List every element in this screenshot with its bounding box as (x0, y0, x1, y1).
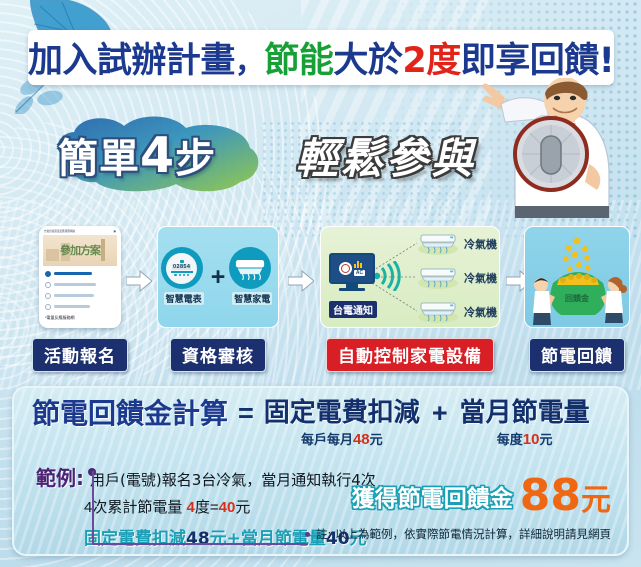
steps-title-prefix: 簡單 (58, 136, 140, 182)
air-conditioner-icon (417, 267, 459, 289)
step-label-eligibility-review: 資格審核 (170, 338, 266, 372)
smart-appliance-icon (229, 247, 271, 289)
phone-statusbar-title: 台電供電需量反應服務網站 (44, 230, 75, 234)
steps-title-number: 4 (140, 127, 175, 184)
appliance-label: 冷氣機 (464, 304, 497, 320)
term2-detail: 每度10元 (460, 429, 590, 448)
formula-equals: = (238, 399, 254, 429)
footnote-block: 註: 以上為範例，依實際節電情況計算，詳細說明請見網頁 (305, 526, 611, 542)
pointer-vertical-line-decor (92, 471, 94, 544)
arrow-right-icon-2 (288, 270, 314, 292)
phone-list-item-label (54, 305, 90, 308)
appliance-row: 冷氣機 (417, 267, 497, 289)
smart-meter-icon: 02854 (161, 247, 203, 289)
meter-reading: 02854 (172, 264, 191, 270)
megaphone-man-illustration (449, 78, 639, 218)
air-conditioner-icon (417, 233, 459, 255)
phone-list-item-label (54, 294, 94, 297)
formula-plus: + (432, 399, 448, 429)
phone-list-item[interactable] (45, 282, 117, 288)
formula-term-fixed-discount: 固定電費扣減 每戶每月48元 (264, 399, 420, 448)
headline-text: 加入試辦計畫，節能大於2度即享回饋! (28, 32, 614, 83)
step-flow: 台電供電需量反應服務網站 ▣ 參加方案 (0, 218, 641, 368)
phone-footer-note: *電量反應服務網 (45, 315, 117, 321)
steps-title: 簡單4步 (58, 126, 216, 184)
appliance-label: 冷氣機 (464, 270, 497, 286)
result-label: 獲得節電回饋金 (352, 479, 513, 513)
term2-detail-prefix: 每度 (497, 432, 523, 447)
phone-step-list (43, 271, 117, 310)
headline-part-4: 2度 (402, 41, 460, 81)
calculation-panel: 節電回饋金計算 = 固定電費扣減 每戶每月48元 + 當月節電量 每度10元 範… (12, 386, 629, 556)
appliance-row: 冷氣機 (417, 233, 497, 255)
headline-part-2: 節能 (264, 41, 333, 81)
air-conditioner-icon (417, 301, 459, 323)
smart-appliance-caption: 智慧家電 (232, 292, 272, 305)
phone-statusbar-icon: ▣ (114, 230, 116, 234)
footnote-text: 註: 以上為範例，依實際節電情況計算，詳細說明請見網頁 (316, 526, 611, 542)
appliance-label: 冷氣機 (464, 236, 497, 252)
term2-detail-unit: 元 (539, 432, 552, 447)
example-line3-b: 48 (186, 529, 210, 549)
headline-part-3: 大於 (333, 41, 402, 81)
money-bag-illustration (525, 227, 630, 328)
step-label-activity-registration: 活動報名 (32, 338, 128, 372)
plus-operator: + (211, 263, 226, 292)
phone-list-item-label (54, 283, 96, 286)
result-amount-value: 88 (520, 470, 581, 521)
step-auto-control-appliances[interactable]: AC 台電通知 (320, 226, 500, 328)
step-eligibility-review[interactable]: 02854 智慧電表 + (157, 226, 279, 328)
example-line3-a: 固定電費扣減 (84, 529, 186, 549)
result-block: 獲得節電回饋金 88元 (352, 476, 611, 516)
result-amount: 88元 (520, 476, 611, 516)
formula-term-monthly-saving: 當月節電量 每度10元 (460, 399, 590, 448)
radio-icon (45, 304, 51, 310)
wifi-signal-icon (375, 261, 401, 291)
phone-statusbar: 台電供電需量反應服務網站 ▣ (43, 229, 117, 234)
eligibility-panel: 02854 智慧電表 + (157, 226, 279, 328)
phone-list-item[interactable] (45, 304, 117, 310)
step-label-energy-saving-reward: 節電回饋 (529, 338, 625, 372)
headline-part-5: 即享回饋! (461, 41, 614, 81)
monitor-badge: AC (354, 270, 364, 276)
arrow-right-icon-1 (126, 270, 152, 292)
radio-icon (45, 293, 51, 299)
example-line2-value2: 40 (219, 499, 236, 516)
radio-selected-icon (45, 271, 51, 277)
formula-title: 節電回饋金計算 (32, 399, 228, 428)
term1-detail-unit: 元 (370, 432, 383, 447)
term1-detail-value: 48 (353, 431, 370, 448)
step-energy-saving-reward[interactable]: 回饋金 節電回饋 (524, 226, 630, 328)
auto-control-panel: AC 台電通知 (320, 226, 500, 328)
term1-detail-prefix: 每戶每月 (301, 432, 353, 447)
step-label-auto-control-appliances: 自動控制家電設備 (326, 338, 494, 372)
footnote-bullet-icon (305, 532, 310, 537)
money-bag-label: 回饋金 (565, 293, 589, 304)
term2-title: 當月節電量 (460, 399, 590, 428)
reward-panel: 回饋金 (524, 226, 630, 328)
steps-title-suffix: 步 (175, 136, 216, 182)
example-line2-prefix: 4次累計節電量 (84, 499, 187, 516)
step-activity-registration[interactable]: 台電供電需量反應服務網站 ▣ 參加方案 (39, 226, 121, 328)
headline-comma: ， (235, 45, 265, 80)
term2-detail-value: 10 (523, 431, 540, 448)
poster-root: 加入試辦計畫，節能大於2度即享回饋! 簡單4步 輕鬆參與 (0, 0, 641, 567)
pointer-horizontal-line-decor (92, 543, 308, 545)
reward-formula: 節電回饋金計算 = 固定電費扣減 每戶每月48元 + 當月節電量 每度10元 (32, 399, 590, 448)
headline-part-1: 加入試辦計畫 (28, 41, 235, 81)
example-line2-value: 4 (187, 499, 195, 516)
registration-phone-mockup: 台電供電需量反應服務網站 ▣ 參加方案 (39, 226, 121, 328)
example-tag: 範例: (36, 462, 84, 491)
phone-banner: 參加方案 (43, 235, 117, 266)
example-line2-mid: 度= (195, 499, 219, 516)
headline-banner: 加入試辦計畫，節能大於2度即享回饋! (28, 30, 614, 85)
term1-detail: 每戶每月48元 (264, 429, 420, 448)
phone-banner-text: 參加方案 (60, 242, 100, 258)
taipower-notification-label: 台電通知 (329, 301, 377, 318)
example-first-row: 範例: 用戶(電號)報名3台冷氣，當月通知執行4次 (36, 462, 376, 491)
example-line-1: 用戶(電號)報名3台冷氣，當月通知執行4次 (90, 469, 376, 490)
term1-title: 固定電費扣減 (264, 399, 420, 428)
example-line-2: 4次累計節電量 4度=40元 (84, 496, 376, 517)
phone-list-item-label (54, 272, 92, 275)
radio-icon (45, 282, 51, 288)
example-line2-unit: 元 (235, 499, 250, 516)
phone-list-item[interactable] (45, 271, 117, 277)
phone-list-item[interactable] (45, 293, 117, 299)
appliance-row: 冷氣機 (417, 301, 497, 323)
result-amount-unit: 元 (581, 483, 611, 518)
smart-meter-caption: 智慧電表 (164, 292, 204, 305)
taipower-monitor-icon: AC (329, 253, 375, 293)
